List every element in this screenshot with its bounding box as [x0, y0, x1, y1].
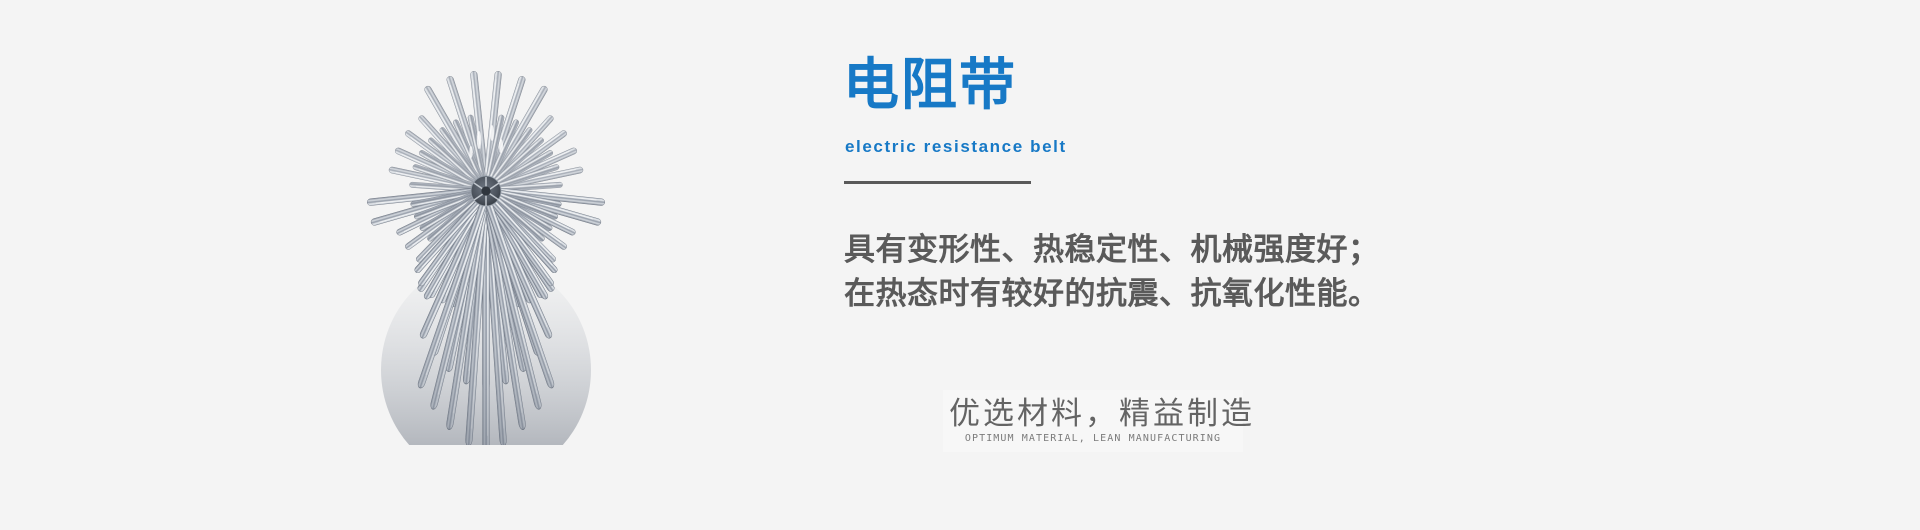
slogan-watermark: 优选材料，精益制造 OPTIMUM MATERIAL, LEAN MANUFAC… [943, 390, 1243, 452]
description-line-1: 具有变形性、热稳定性、机械强度好； [844, 228, 1404, 272]
title-divider [844, 181, 1031, 184]
description-line-2: 在热态时有较好的抗震、抗氧化性能。 [844, 272, 1404, 316]
page-title: 电阻带 [843, 55, 1017, 115]
product-banner: 电阻带 electric resistance belt 具有变形性、热稳定性、… [0, 0, 1920, 530]
resistance-belt-coil-bundle-image [296, 70, 676, 445]
banner-content: 电阻带 electric resistance belt 具有变形性、热稳定性、… [843, 0, 1543, 530]
page-subtitle: electric resistance belt [845, 137, 1067, 157]
slogan-english: OPTIMUM MATERIAL, LEAN MANUFACTURING [949, 432, 1237, 446]
slogan-chinese: 优选材料，精益制造 [949, 394, 1237, 434]
product-description: 具有变形性、热稳定性、机械强度好； 在热态时有较好的抗震、抗氧化性能。 [844, 228, 1404, 316]
